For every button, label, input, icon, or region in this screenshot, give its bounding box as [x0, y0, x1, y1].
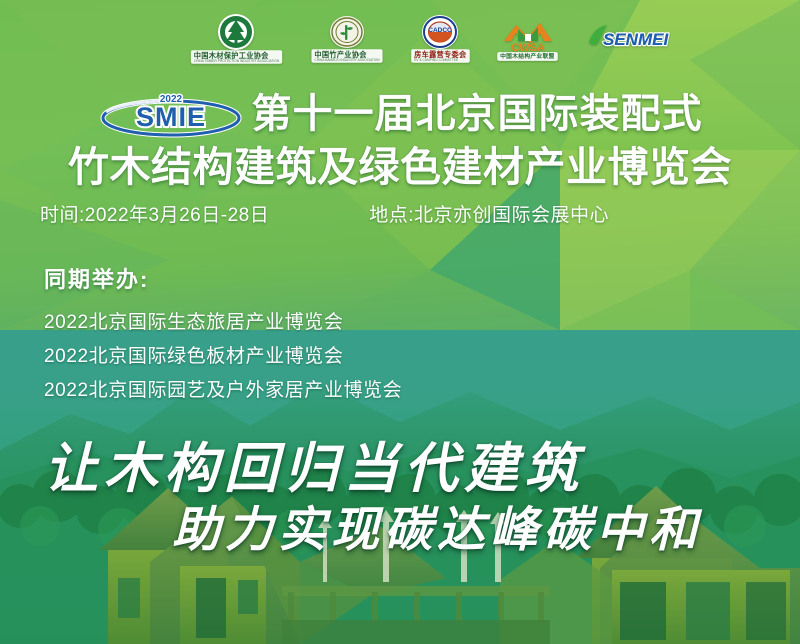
logo-senmei: SENMEI SENMEI: [585, 22, 681, 57]
concurrent-item: 2022北京国际绿色板材产业博览会: [44, 340, 604, 374]
concurrent-item: 2022北京国际园艺及户外家居产业博览会: [44, 374, 604, 408]
event-meta: 时间:2022年3月26日-28日 地点:北京亦创国际会展中心: [40, 200, 760, 227]
title-row-secondary: 竹木结构建筑及绿色建材产业博览会: [0, 142, 800, 192]
logo-label: 中国木结构产业联盟: [498, 52, 558, 61]
logo-label: 中国竹产业协会 CHINA BAMBOO INDUSTRY ASSOCIATIO…: [311, 50, 382, 64]
smie-logo: 2022 SMIE: [98, 90, 244, 138]
title-line-1: 第十一届北京国际装配式: [252, 90, 703, 138]
logo-cn-timber-protection: 中国木材保护工业协会 CHINA TIMBER PROTECTION INDUS…: [189, 13, 284, 64]
svg-text:SENMEI: SENMEI: [603, 30, 669, 49]
association-logo-strip: 中国木材保护工业协会 CHINA TIMBER PROTECTION INDUS…: [0, 0, 800, 78]
logo-cadcc: CADCC 房车露营专委会 RV & CAMPING COMMITTEE: [410, 14, 471, 63]
concurrent-heading: 同期举办:: [44, 262, 604, 294]
title-line-2: 竹木结构建筑及绿色建材产业博览会: [68, 144, 732, 190]
event-venue: 地点:北京亦创国际会展中心: [369, 200, 609, 227]
title-row-primary: 2022 SMIE 第十一届北京国际装配式: [0, 88, 800, 140]
exhibition-poster: 中国木材保护工业协会 CHINA TIMBER PROTECTION INDUS…: [0, 0, 800, 644]
event-date: 时间:2022年3月26日-28日: [40, 200, 269, 227]
slogan-secondary: 助力实现碳达峰碳中和: [172, 490, 702, 560]
concurrent-item: 2022北京国际生态旅居产业博览会: [44, 306, 604, 340]
logo-label: 房车露营专委会 RV & CAMPING COMMITTEE: [411, 50, 469, 64]
logo-bamboo-association: 中国竹产业协会 CHINA BAMBOO INDUSTRY ASSOCIATIO…: [310, 14, 384, 63]
logo-label: 中国木材保护工业协会 CHINA TIMBER PROTECTION INDUS…: [191, 51, 282, 65]
senmei-leaf-icon: SENMEI SENMEI: [585, 22, 681, 57]
svg-text:CADCC: CADCC: [428, 27, 452, 34]
logo-cwsa: CWSA 中国木结构产业联盟: [496, 17, 559, 61]
poster-title-block: 2022 SMIE 第十一届北京国际装配式 竹木结构建筑及绿色建材产业博览会: [0, 88, 800, 192]
concurrent-events: 同期举办: 2022北京国际生态旅居产业博览会 2022北京国际绿色板材产业博览…: [44, 262, 604, 408]
smie-acronym: SMIE: [135, 102, 205, 132]
